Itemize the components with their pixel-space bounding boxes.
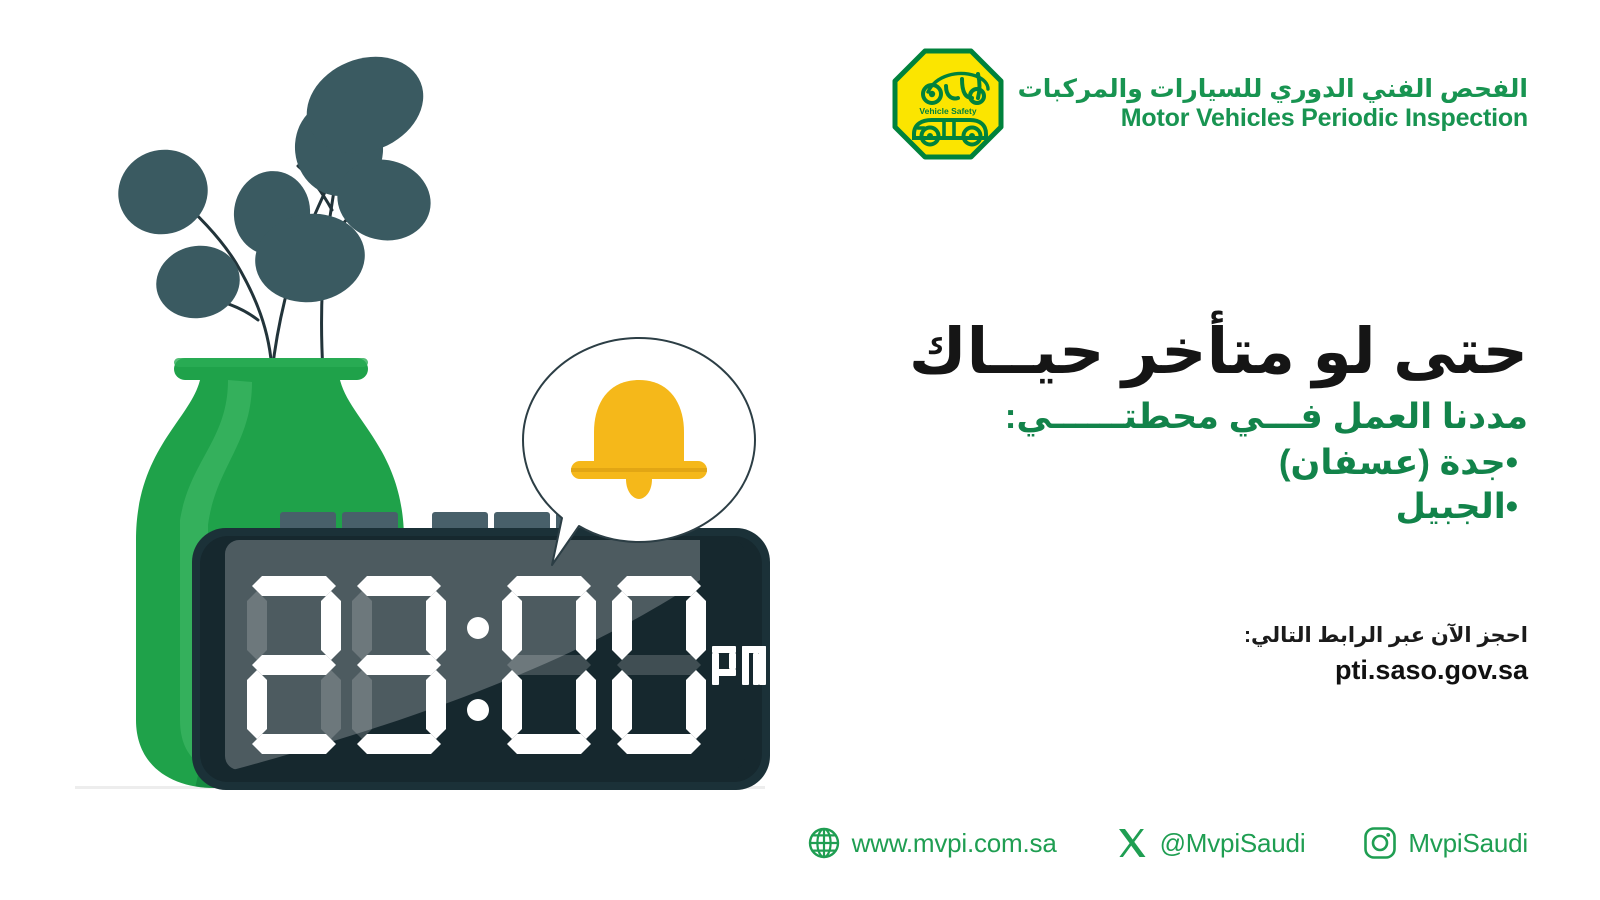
social-bar: MvpiSaudi @MvpiSaudi www.mvpi.com.sa [807, 826, 1528, 860]
vase-rim-light [174, 358, 368, 367]
list-item: الجبيل [738, 485, 1528, 529]
page-title: حتى لو متأخر حيــاك [738, 318, 1528, 386]
clock-plant-illustration [40, 20, 830, 810]
globe-icon [807, 826, 841, 860]
social-label-website: www.mvpi.com.sa [852, 828, 1057, 859]
brand-header: الفحص الفني الدوري للسيارات والمركبات Mo… [892, 48, 1528, 160]
subheadline: مددنا العمل فـــي محطتــــــي: [738, 396, 1528, 439]
brand-name-english: Motor Vehicles Periodic Inspection [1018, 104, 1528, 134]
x-twitter-icon [1115, 826, 1149, 860]
leaf-1 [107, 138, 219, 246]
social-item-instagram[interactable]: MvpiSaudi [1363, 826, 1528, 860]
plant-group [107, 40, 439, 372]
poster-canvas: الفحص الفني الدوري للسيارات والمركبات Mo… [0, 0, 1600, 900]
social-item-x[interactable]: @MvpiSaudi [1115, 826, 1306, 860]
brand-name-block: الفحص الفني الدوري للسيارات والمركبات Mo… [1018, 75, 1528, 134]
cta-url[interactable]: pti.saso.gov.sa [1244, 652, 1528, 688]
cta-label: احجز الآن عبر الرابط التالي: [1244, 620, 1528, 652]
station-list: جدة (عسفان) الجبيل [738, 441, 1528, 529]
brand-name-arabic: الفحص الفني الدوري للسيارات والمركبات [1018, 75, 1528, 105]
cta-block: احجز الآن عبر الرابط التالي: pti.saso.go… [1244, 620, 1528, 688]
leaf-2 [149, 238, 246, 326]
list-item: جدة (عسفان) [738, 441, 1528, 485]
social-label-x: @MvpiSaudi [1160, 828, 1306, 859]
digital-clock-group [192, 512, 770, 790]
logo-octagon [895, 51, 1001, 157]
social-item-website[interactable]: www.mvpi.com.sa [807, 826, 1057, 860]
mvpi-logo-icon: Vehicle Safety [892, 48, 1004, 160]
copy-block: حتى لو متأخر حيــاك مددنا العمل فـــي مح… [738, 318, 1528, 529]
logo-vehicle-safety-text: Vehicle Safety [919, 106, 976, 116]
social-label-instagram: MvpiSaudi [1408, 828, 1528, 859]
instagram-icon [1363, 826, 1397, 860]
